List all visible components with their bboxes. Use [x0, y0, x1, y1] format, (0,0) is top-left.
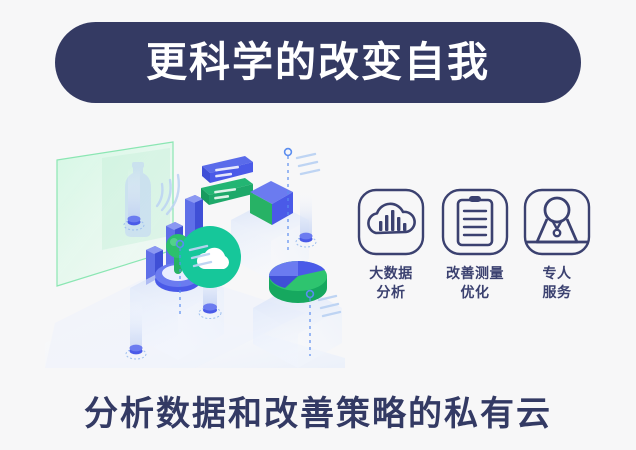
- footer-headline: 分析数据和改善策略的私有云: [0, 386, 636, 435]
- feature-label: 大数据 分析: [354, 265, 428, 304]
- feature-label: 改善测量 优化: [438, 265, 512, 304]
- page-title: 更科学的改变自我: [146, 42, 490, 83]
- feature-item-dedicated-service[interactable]: 专人 服务: [520, 188, 594, 304]
- illustration-stage: [45, 128, 345, 368]
- green-info-card: [201, 178, 253, 205]
- feature-item-measurement-optimization[interactable]: 改善测量 优化: [438, 188, 512, 304]
- service-agent-icon: [523, 188, 591, 256]
- feature-list: 大数据 分析 改善测量: [352, 188, 600, 328]
- feature-item-big-data-analysis[interactable]: 大数据 分析: [354, 188, 428, 304]
- clipboard-icon: [441, 188, 509, 256]
- pie-chart-3d: [269, 261, 327, 303]
- feature-label-line1: 大数据: [354, 265, 428, 284]
- cloud-bar-chart-icon: [357, 188, 425, 256]
- header-banner: 更科学的改变自我: [55, 22, 581, 103]
- feature-label-line1: 专人: [520, 265, 594, 284]
- feature-label-line2: 分析: [354, 284, 428, 303]
- feature-label-line1: 改善测量: [438, 265, 512, 284]
- feature-label-line2: 服务: [520, 284, 594, 303]
- promo-banner-page: 更科学的改变自我: [0, 0, 636, 450]
- feature-label: 专人 服务: [520, 265, 594, 304]
- feature-label-line2: 优化: [438, 284, 512, 303]
